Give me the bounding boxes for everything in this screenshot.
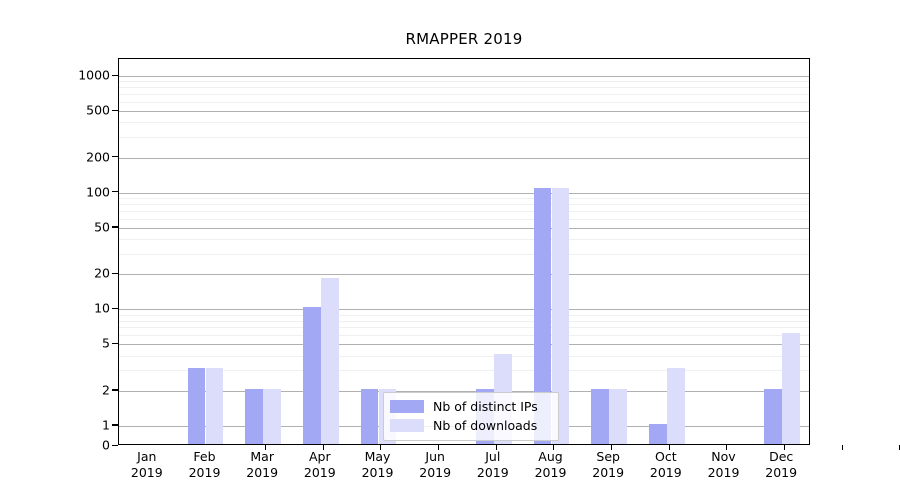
x-axis-tick-label-month: Aug <box>535 449 567 465</box>
x-axis-tick-label-month: Jul <box>477 449 509 465</box>
x-axis-tick-label-year: 2019 <box>246 465 278 481</box>
legend-label-downloads: Nb of downloads <box>433 418 537 433</box>
x-axis-tick-label-year: 2019 <box>650 465 682 481</box>
x-axis-tick-label-month: Apr <box>304 449 336 465</box>
x-axis-tick-label-month: Oct <box>650 449 682 465</box>
x-axis-tick-label: Jul2019 <box>477 449 509 481</box>
x-axis-tick-label-month: Feb <box>189 449 221 465</box>
legend-swatch-distinct-ips <box>390 400 424 413</box>
x-axis-tick-label-month: Dec <box>765 449 797 465</box>
legend-swatch-downloads <box>390 419 424 432</box>
x-axis-tick-label-year: 2019 <box>592 465 624 481</box>
x-axis-tick-label: Feb2019 <box>189 449 221 481</box>
x-axis-tick-label-year: 2019 <box>765 465 797 481</box>
x-axis-tick-label-year: 2019 <box>477 465 509 481</box>
x-axis-tick-label: Oct2019 <box>650 449 682 481</box>
x-axis-tick-label-year: 2019 <box>189 465 221 481</box>
x-axis-tick-label-month: Nov <box>708 449 740 465</box>
x-axis-tick-label-month: Jun <box>419 449 451 465</box>
x-axis-tick-label-year: 2019 <box>708 465 740 481</box>
x-axis-tick-label: Sep2019 <box>592 449 624 481</box>
chart-legend: Nb of distinct IPs Nb of downloads <box>383 392 559 441</box>
x-axis-tick-label-month: Mar <box>246 449 278 465</box>
x-axis-tick-label: Mar2019 <box>246 449 278 481</box>
x-axis-tick-mark <box>842 445 843 450</box>
y-axis-tick-marks <box>0 58 120 445</box>
x-axis-tick-label: Nov2019 <box>708 449 740 481</box>
legend-item-downloads: Nb of downloads <box>390 416 552 435</box>
chart-figure: RMAPPER 2019 01251020501002005001000 Jan… <box>0 0 900 500</box>
legend-label-distinct-ips: Nb of distinct IPs <box>433 399 538 414</box>
x-axis-tick-label-year: 2019 <box>131 465 163 481</box>
x-axis-tick-label: Apr2019 <box>304 449 336 481</box>
x-axis-tick-label-month: May <box>362 449 394 465</box>
x-axis-tick-label-year: 2019 <box>304 465 336 481</box>
x-axis-tick-label: May2019 <box>362 449 394 481</box>
x-axis-tick-label-month: Jan <box>131 449 163 465</box>
legend-item-distinct-ips: Nb of distinct IPs <box>390 397 552 416</box>
x-axis-tick-label: Dec2019 <box>765 449 797 481</box>
x-axis-tick-labels: Jan2019Feb2019Mar2019Apr2019May2019Jun20… <box>118 449 810 495</box>
x-axis-tick-label-month: Sep <box>592 449 624 465</box>
x-axis-tick-label: Aug2019 <box>535 449 567 481</box>
x-axis-tick-label-year: 2019 <box>535 465 567 481</box>
x-axis-tick-label-year: 2019 <box>419 465 451 481</box>
x-axis-tick-label-year: 2019 <box>362 465 394 481</box>
x-axis-tick-label: Jan2019 <box>131 449 163 481</box>
x-axis-tick-label: Jun2019 <box>419 449 451 481</box>
